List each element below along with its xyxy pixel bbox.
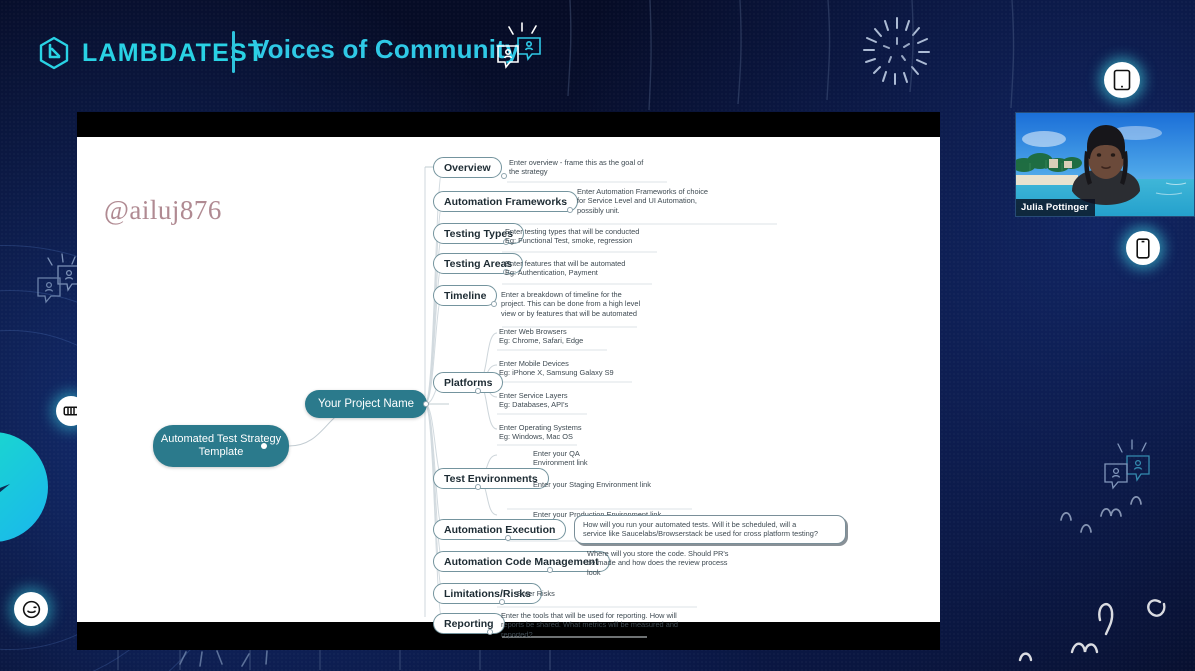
chat-bubbles-icon bbox=[1096, 438, 1158, 499]
play-arrow-circle-icon bbox=[0, 432, 48, 542]
leaf-test-env-1: Enter your QA Environment link bbox=[533, 449, 693, 468]
leaf-test-env-2: Enter your Staging Environment link bbox=[533, 480, 753, 489]
branch-automation-frameworks[interactable]: Automation Frameworks bbox=[433, 191, 578, 212]
branch-anchor bbox=[475, 484, 481, 490]
mobile-phone-icon bbox=[1126, 231, 1160, 265]
project-node-anchor bbox=[423, 401, 429, 407]
leaf-automation-execution-1: How will you run your automated tests. W… bbox=[574, 515, 846, 544]
branch-overview[interactable]: Overview bbox=[433, 157, 502, 178]
vertical-divider bbox=[232, 31, 235, 73]
shared-screen-slide[interactable]: @ailuj876 bbox=[77, 112, 940, 650]
branch-test-environments[interactable]: Test Environments bbox=[433, 468, 549, 489]
mindmap-root-node[interactable]: Automated Test Strategy Template bbox=[153, 425, 289, 467]
leaf-testing-types-1: Enter testing types that will be conduct… bbox=[505, 227, 710, 246]
branch-anchor bbox=[567, 207, 573, 213]
branch-platforms[interactable]: Platforms bbox=[433, 372, 503, 393]
header-bar: LAMBDATEST Voices of Community bbox=[0, 0, 1195, 110]
chat-bubbles-icon bbox=[492, 22, 548, 70]
leaf-reporting-1: Enter the tools that will be used for re… bbox=[501, 611, 713, 639]
leaf-platforms-3: Enter Service Layers Eg: Databases, API'… bbox=[499, 391, 679, 410]
tablet-device-icon bbox=[1104, 62, 1140, 98]
page-title: Voices of Community bbox=[252, 34, 520, 65]
branch-automation-execution[interactable]: Automation Execution bbox=[433, 519, 566, 540]
mindmap: Automated Test Strategy Template Your Pr… bbox=[77, 137, 940, 622]
smiley-face-icon bbox=[14, 592, 48, 626]
branch-reporting[interactable]: Reporting bbox=[433, 613, 505, 634]
participant-video-tile[interactable]: Julia Pottinger bbox=[1015, 112, 1195, 217]
brand-logo: LAMBDATEST bbox=[38, 36, 264, 70]
lambdatest-logo-icon bbox=[38, 36, 70, 70]
branch-automation-code-management[interactable]: Automation Code Management bbox=[433, 551, 610, 572]
root-node-anchor bbox=[261, 443, 267, 449]
branch-anchor bbox=[547, 567, 553, 573]
branch-anchor bbox=[475, 388, 481, 394]
branch-anchor bbox=[491, 301, 497, 307]
branch-timeline[interactable]: Timeline bbox=[433, 285, 497, 306]
slide-canvas: @ailuj876 bbox=[77, 137, 940, 622]
participant-name-label: Julia Pottinger bbox=[1016, 199, 1095, 216]
leaf-overview-1: Enter overview - frame this as the goal … bbox=[509, 158, 684, 177]
branch-anchor bbox=[501, 173, 507, 179]
brand-name: LAMBDATEST bbox=[82, 41, 264, 66]
leaf-testing-areas-1: Enter features that will be automated Eg… bbox=[505, 259, 705, 278]
branch-anchor bbox=[499, 599, 505, 605]
leaf-platforms-4: Enter Operating Systems Eg: Windows, Mac… bbox=[499, 423, 684, 442]
leaf-code-management-1: Where will you store the code. Should PR… bbox=[587, 549, 777, 577]
leaf-frameworks-1: Enter Automation Frameworks of choice fo… bbox=[577, 187, 767, 215]
leaf-limitations-1: Enter Risks bbox=[517, 589, 607, 598]
mindmap-project-node[interactable]: Your Project Name bbox=[305, 390, 427, 418]
branch-anchor bbox=[487, 629, 493, 635]
branch-anchor bbox=[505, 535, 511, 541]
leaf-timeline-1: Enter a breakdown of timeline for the pr… bbox=[501, 290, 703, 318]
leaf-platforms-2: Enter Mobile Devices Eg: iPhone X, Samsu… bbox=[499, 359, 694, 378]
leaf-platforms-1: Enter Web Browsers Eg: Chrome, Safari, E… bbox=[499, 327, 679, 346]
